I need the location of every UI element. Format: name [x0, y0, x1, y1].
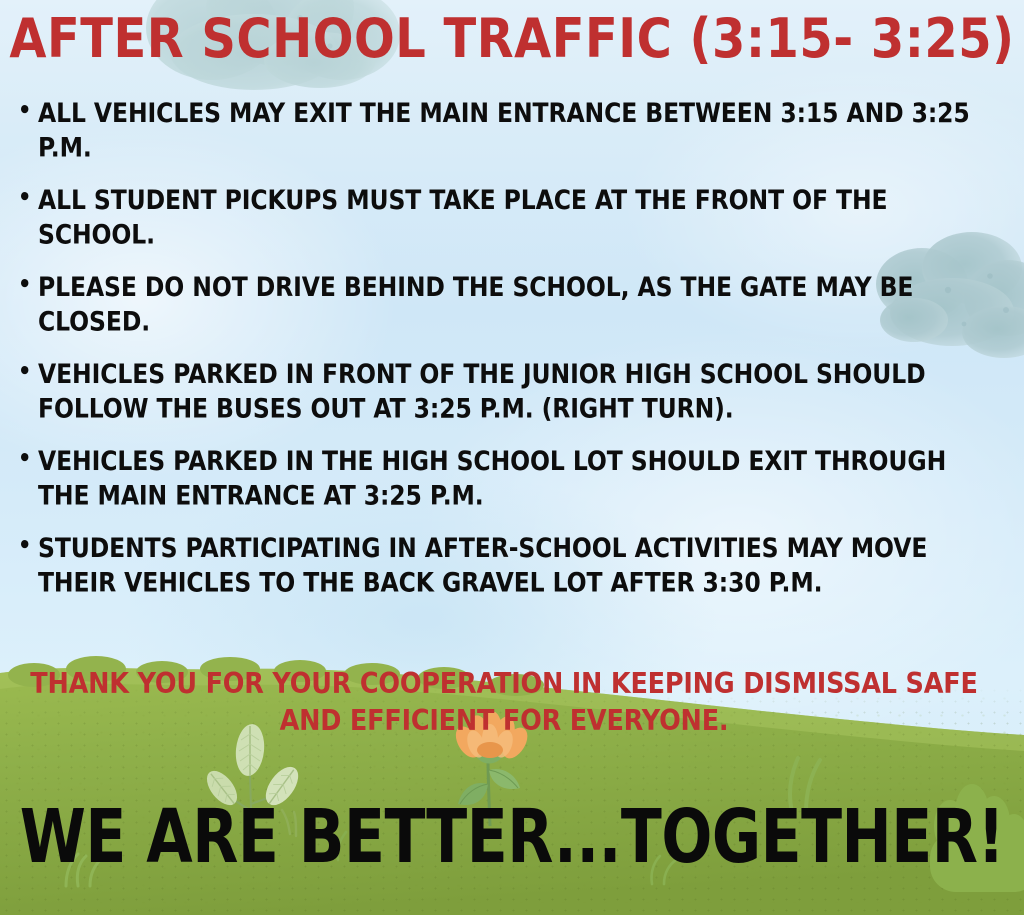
list-item: STUDENTS PARTICIPATING IN AFTER-SCHOOL A…	[16, 531, 988, 599]
tagline: WE ARE BETTER...TOGETHER!	[0, 800, 1024, 874]
page-title: AFTER SCHOOL TRAFFIC (3:15- 3:25)	[0, 12, 1024, 69]
list-item: PLEASE DO NOT DRIVE BEHIND THE SCHOOL, A…	[16, 270, 988, 338]
poster-canvas: AFTER SCHOOL TRAFFIC (3:15- 3:25) ALL VE…	[0, 0, 1024, 915]
thank-you-message: THANK YOU FOR YOUR COOPERATION IN KEEPIN…	[14, 666, 994, 739]
list-item: VEHICLES PARKED IN THE HIGH SCHOOL LOT S…	[16, 444, 988, 512]
list-item: ALL STUDENT PICKUPS MUST TAKE PLACE AT T…	[16, 183, 988, 251]
poster-content: AFTER SCHOOL TRAFFIC (3:15- 3:25) ALL VE…	[0, 0, 1024, 915]
instructions-list: ALL VEHICLES MAY EXIT THE MAIN ENTRANCE …	[16, 96, 988, 619]
list-item: ALL VEHICLES MAY EXIT THE MAIN ENTRANCE …	[16, 96, 988, 164]
list-item: VEHICLES PARKED IN FRONT OF THE JUNIOR H…	[16, 357, 988, 425]
